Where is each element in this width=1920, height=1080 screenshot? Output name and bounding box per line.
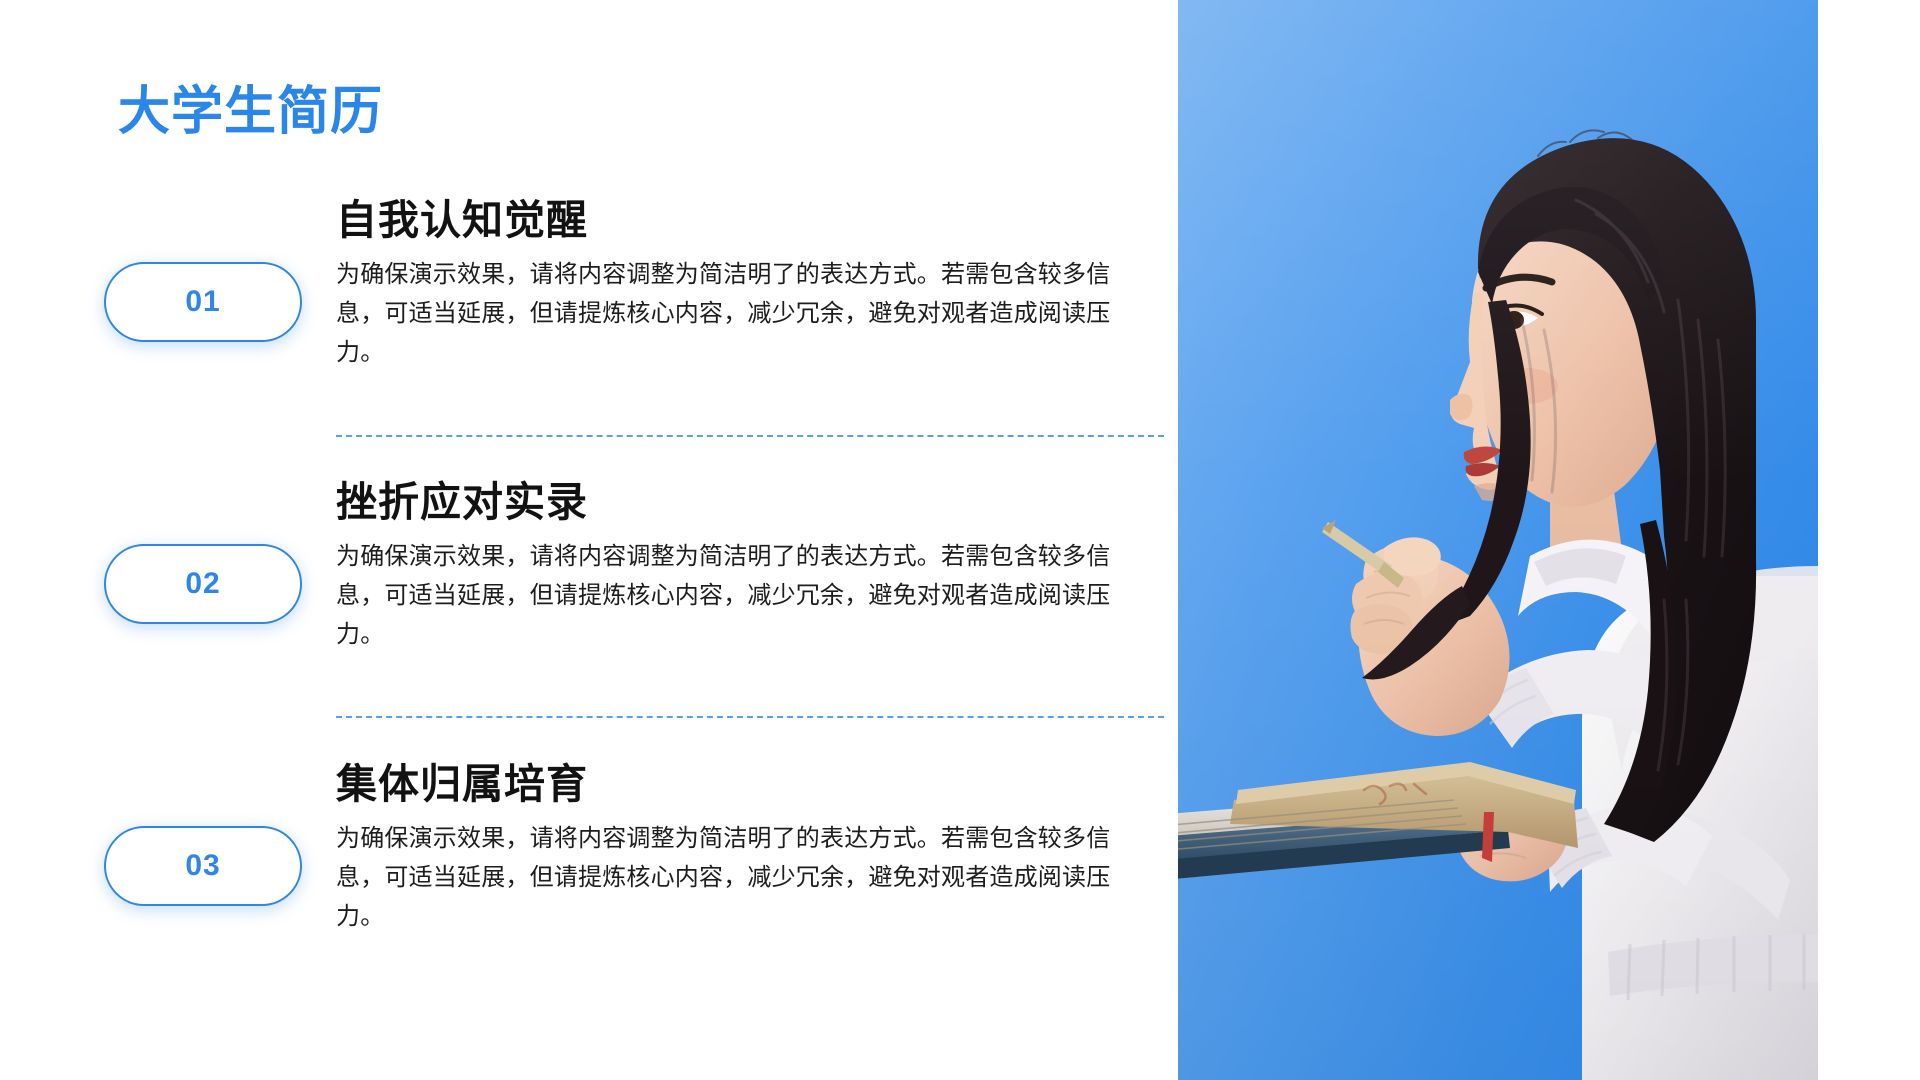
item-heading: 挫折应对实录	[336, 478, 1126, 526]
item-number-badge-03[interactable]: 03	[104, 826, 302, 906]
item-body: 挫折应对实录 为确保演示效果，请将内容调整为简洁明了的表达方式。若需包含较多信息…	[336, 478, 1126, 655]
item-description: 为确保演示效果，请将内容调整为简洁明了的表达方式。若需包含较多信息，可适当延展，…	[336, 538, 1126, 655]
student-photo	[1178, 0, 1818, 1080]
photo-panel	[1178, 0, 1818, 1080]
section-divider	[336, 435, 1164, 437]
item-description: 为确保演示效果，请将内容调整为简洁明了的表达方式。若需包含较多信息，可适当延展，…	[336, 256, 1126, 373]
item-number-label: 01	[185, 287, 220, 317]
item-body: 集体归属培育 为确保演示效果，请将内容调整为简洁明了的表达方式。若需包含较多信息…	[336, 760, 1126, 937]
item-body: 自我认知觉醒 为确保演示效果，请将内容调整为简洁明了的表达方式。若需包含较多信息…	[336, 196, 1126, 373]
section-divider	[336, 716, 1164, 718]
item-number-badge-02[interactable]: 02	[104, 544, 302, 624]
item-heading: 集体归属培育	[336, 760, 1126, 808]
item-number-label: 02	[185, 569, 220, 599]
slide-root: 大学生简历 01 自我认知觉醒 为确保演示效果，请将内容调整为简洁明了的表达方式…	[0, 0, 1920, 1080]
item-number-label: 03	[185, 851, 220, 881]
item-heading: 自我认知觉醒	[336, 196, 1126, 244]
content-list: 01 自我认知觉醒 为确保演示效果，请将内容调整为简洁明了的表达方式。若需包含较…	[0, 0, 1178, 1080]
item-number-badge-01[interactable]: 01	[104, 262, 302, 342]
item-description: 为确保演示效果，请将内容调整为简洁明了的表达方式。若需包含较多信息，可适当延展，…	[336, 820, 1126, 937]
